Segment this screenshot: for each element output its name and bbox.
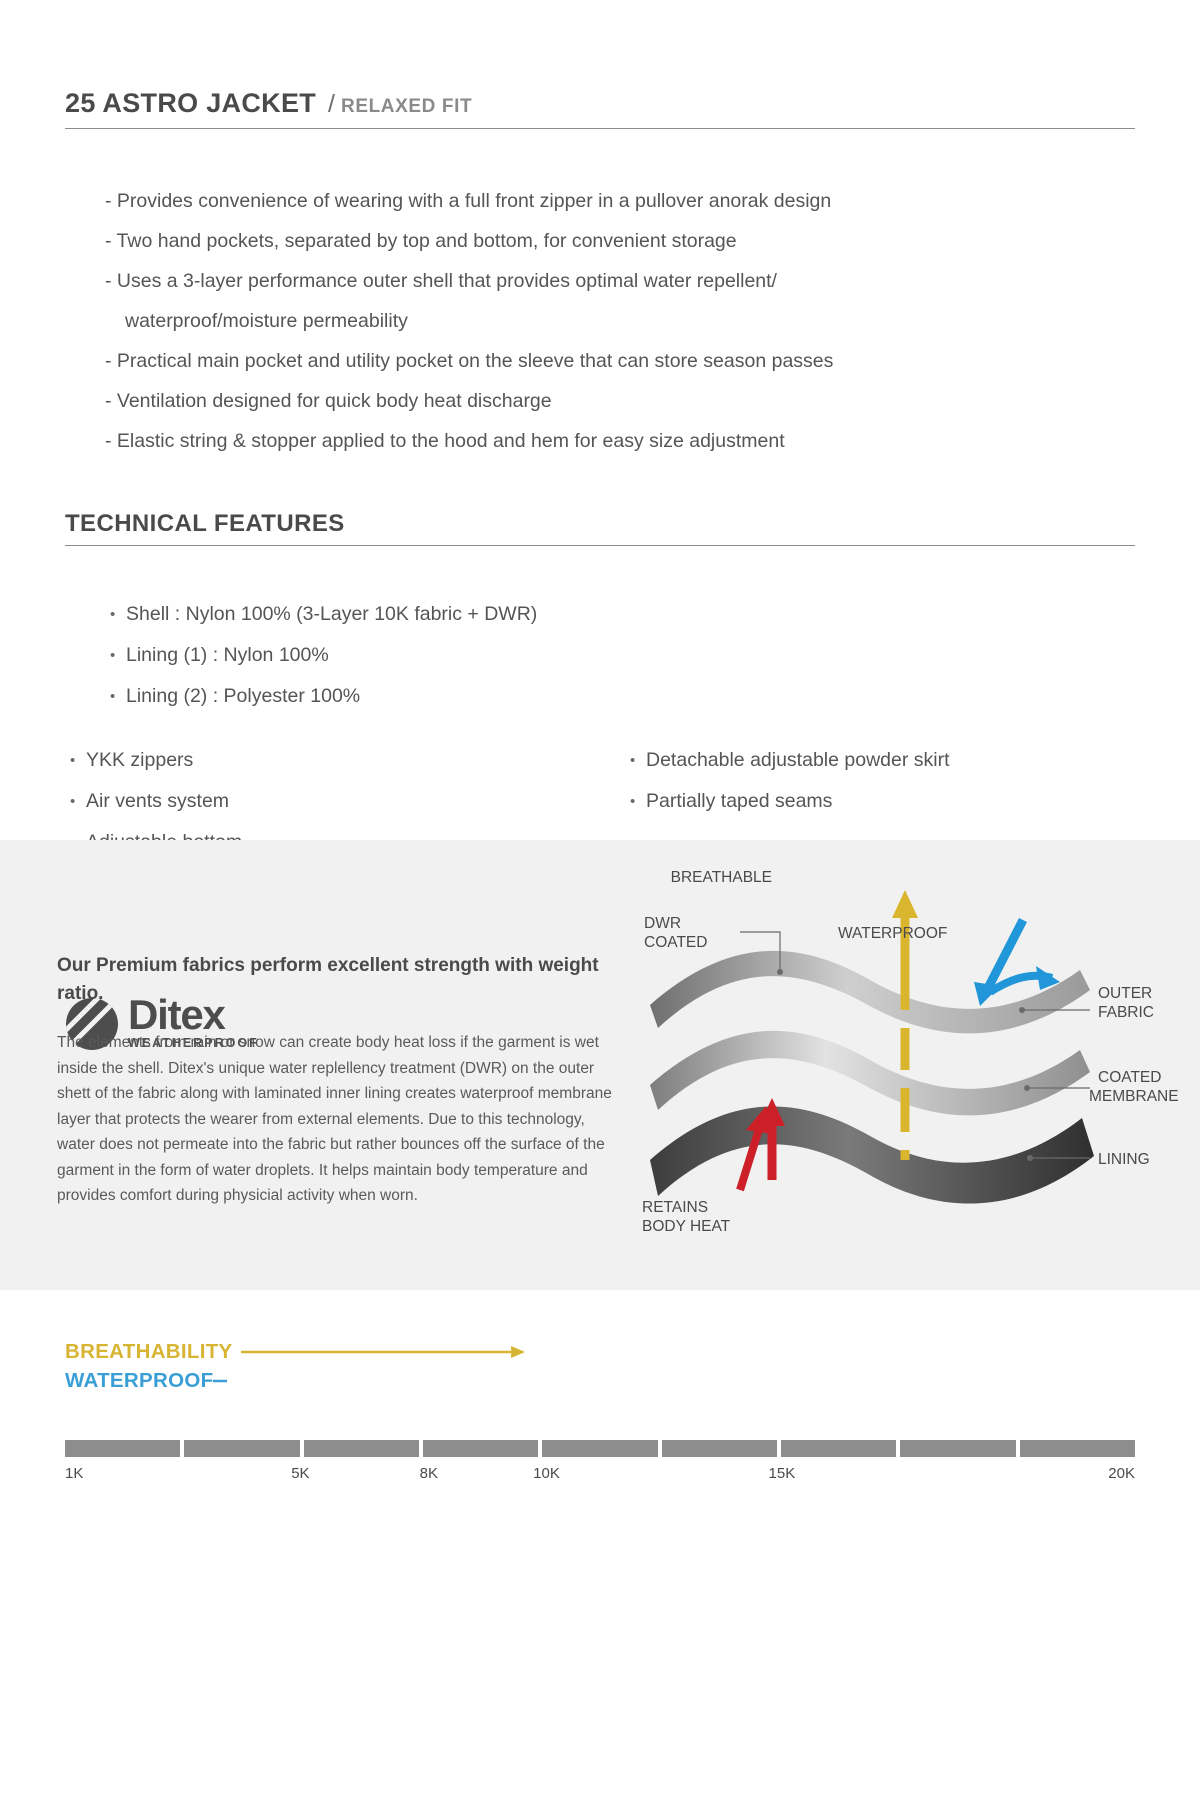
scale-bar-segment [781,1440,896,1457]
scale-bar-segment [1020,1440,1135,1457]
scale-bar-segment [184,1440,299,1457]
breathability-label: BREATHABILITY [65,1340,233,1364]
material-spec-item: •Lining (1) : Nylon 100% [110,635,810,676]
product-fit: RELAXED FIT [341,96,472,118]
product-name: 25 ASTRO JACKET [65,88,316,119]
bullet-icon: • [70,782,86,822]
scale-tick: 8K [420,1465,438,1482]
waterproof-label: WATERPROOF [65,1369,213,1393]
title-separator: / [328,90,335,119]
scale-bar-track [65,1440,1135,1457]
product-feature-item: - Uses a 3-layer performance outer shell… [105,261,1175,301]
scale-bar-segment [542,1440,657,1457]
dwr-coated-label-line1: DWR [644,915,681,932]
page-title: 25 ASTRO JACKET / RELAXED FIT [65,88,1135,119]
technical-feature-item: •YKK zippers [70,740,570,781]
scale-bar-segment [304,1440,419,1457]
fabric-layer-diagram: BREATHABLE DWR COATED WATERPROOF OUTER F… [620,860,1180,1280]
product-feature-item: waterproof/moisture permeability [105,301,1175,341]
coated-membrane-label-line2: MEMBRANE [1089,1088,1179,1105]
bullet-icon: • [110,595,126,635]
scale-tick: 10K [533,1465,560,1482]
product-feature-item: - Ventilation designed for quick body he… [105,381,1175,421]
retains-body-heat-label-line1: RETAINS [642,1199,708,1216]
coated-membrane-label-line1: COATED [1098,1069,1161,1086]
technical-features-heading: TECHNICAL FEATURES [65,510,345,538]
scale-bar-segment [65,1440,180,1457]
scale-tick: 15K [769,1465,796,1482]
scale-bar-segment [900,1440,1015,1457]
retains-body-heat-label-line2: BODY HEAT [642,1218,731,1235]
technical-features-divider [65,545,1135,546]
scale-bar-segment [423,1440,538,1457]
breathability-scale-row: BREATHABILITY [65,1340,525,1364]
bullet-icon: • [70,741,86,781]
outer-fabric-label-line1: OUTER [1098,985,1152,1002]
product-feature-item: - Practical main pocket and utility pock… [105,341,1175,381]
material-spec-item: •Shell : Nylon 100% (3-Layer 10K fabric … [110,594,810,635]
product-feature-item: - Two hand pockets, separated by top and… [105,221,1175,261]
technical-feature-item: •Partially taped seams [630,781,1130,822]
product-feature-list: - Provides convenience of wearing with a… [65,181,1175,461]
breathability-arrow-icon [233,1343,525,1361]
scale-tick: 1K [65,1465,83,1482]
bullet-icon: • [630,782,646,822]
ditex-lead-text: Our Premium fabrics perform excellent st… [57,952,617,1008]
bullet-icon: • [630,741,646,781]
product-feature-item: - Elastic string & stopper applied to th… [105,421,1175,461]
ditex-body-text: The elements from rain or snow can creat… [57,1030,617,1209]
bullet-icon: • [110,636,126,676]
scale-tick-labels: 1K5K8K10K15K20K [65,1465,1135,1487]
technical-feature-item: •Detachable adjustable powder skirt [630,740,1130,781]
product-spec-page: 25 ASTRO JACKET / RELAXED FIT - Provides… [0,0,1200,1800]
scale-tick: 5K [291,1465,309,1482]
technical-feature-item: •Air vents system [70,781,570,822]
ditex-technology-panel: Ditex WEATHERPROOF Our Premium fabrics p… [0,840,1200,1290]
title-divider [65,128,1135,129]
dwr-coated-label-line2: COATED [644,934,707,951]
material-spec-item: •Lining (2) : Polyester 100% [110,676,810,717]
material-spec-list: •Shell : Nylon 100% (3-Layer 10K fabric … [70,594,810,717]
waterproof-label: WATERPROOF [838,925,947,942]
scale-tick: 20K [1108,1465,1135,1482]
product-feature-item: - Provides convenience of wearing with a… [105,181,1175,221]
waterproof-arrow-icon [213,1372,513,1390]
lining-label: LINING [1098,1151,1150,1168]
breathable-label: BREATHABLE [671,869,772,886]
scale-bar-segment [662,1440,777,1457]
waterproof-scale-row: WATERPROOF [65,1369,513,1393]
bullet-icon: • [110,677,126,717]
outer-fabric-label-line2: FABRIC [1098,1004,1154,1021]
feature-list-right: •Detachable adjustable powder skirt•Part… [630,740,1130,822]
